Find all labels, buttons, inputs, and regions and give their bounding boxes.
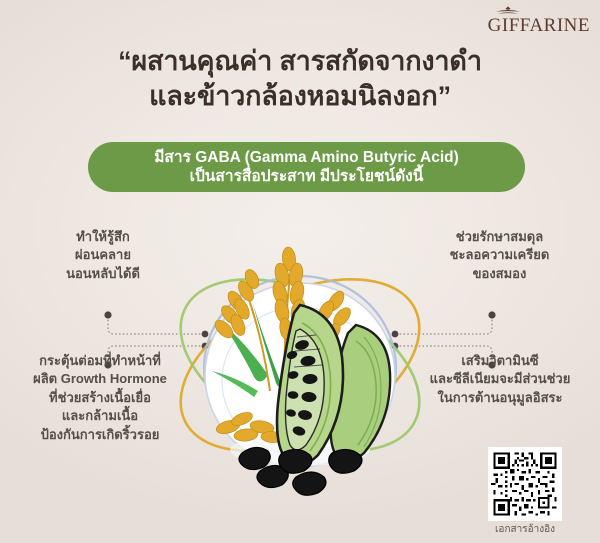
qr-caption: เอกสารอ้างอิง [484, 525, 566, 535]
crown-ornament-icon [488, 6, 528, 15]
reference-qr-block[interactable]: เอกสารอ้างอิง [484, 447, 566, 535]
brand-wordmark: GIFFARINE [488, 16, 590, 35]
connector-dot-brain [488, 311, 495, 318]
page-title-line-2: และข้าวกล้องหอมนิลงอก” [0, 79, 600, 114]
page-title: “ผสานคุณค่า สารสกัดจากงาดำ และข้าวกล้องห… [0, 44, 600, 113]
gaba-highlight-banner: มีสาร GABA (Gamma Amino Butyric Acid) เป… [88, 142, 525, 192]
infographic-canvas: GIFFARINE “ผสานคุณค่า สารสกัดจากงาดำ และ… [0, 0, 600, 543]
connector-dot-relax [104, 311, 111, 318]
black-sesame-and-germinated-rice-illustration [150, 205, 450, 500]
brand-logo: GIFFARINE [488, 6, 590, 35]
qr-code-icon[interactable] [488, 447, 562, 521]
black-sesame-seeds-icon [239, 447, 362, 495]
gaba-banner-line-1: มีสาร GABA (Gamma Amino Butyric Acid) [154, 148, 459, 167]
gaba-banner-line-2: เป็นสารสื่อประสาท มีประโยชน์ดังนี้ [190, 167, 424, 186]
page-title-line-1: “ผสานคุณค่า สารสกัดจากงาดำ [0, 44, 600, 79]
